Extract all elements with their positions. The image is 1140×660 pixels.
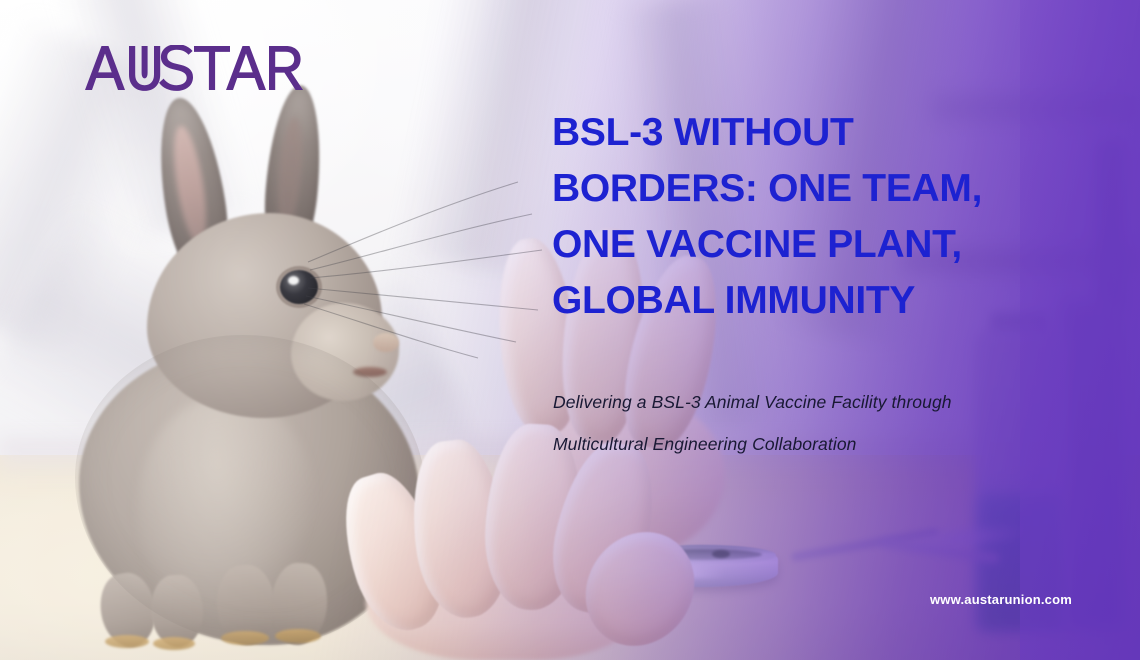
headline-line-2: BORDERS: ONE TEAM, (552, 161, 1072, 217)
banner-content: BSL-3 WITHOUT BORDERS: ONE TEAM, ONE VAC… (0, 0, 1140, 660)
austar-logo-mark (84, 45, 304, 91)
website-url[interactable]: www.austarunion.com (930, 592, 1072, 607)
headline-line-3: ONE VACCINE PLANT, (552, 217, 1072, 273)
headline-line-1: BSL-3 WITHOUT (552, 105, 1072, 161)
subtitle-line-2: Multicultural Engineering Collaboration (553, 423, 1073, 465)
subtitle-line-1: Delivering a BSL-3 Animal Vaccine Facili… (553, 381, 1073, 423)
subtitle: Delivering a BSL-3 Animal Vaccine Facili… (553, 381, 1073, 465)
headline: BSL-3 WITHOUT BORDERS: ONE TEAM, ONE VAC… (552, 105, 1072, 329)
marketing-banner: BSL-3 WITHOUT BORDERS: ONE TEAM, ONE VAC… (0, 0, 1140, 660)
headline-line-4: GLOBAL IMMUNITY (552, 273, 1072, 329)
austar-logo[interactable] (84, 45, 304, 91)
